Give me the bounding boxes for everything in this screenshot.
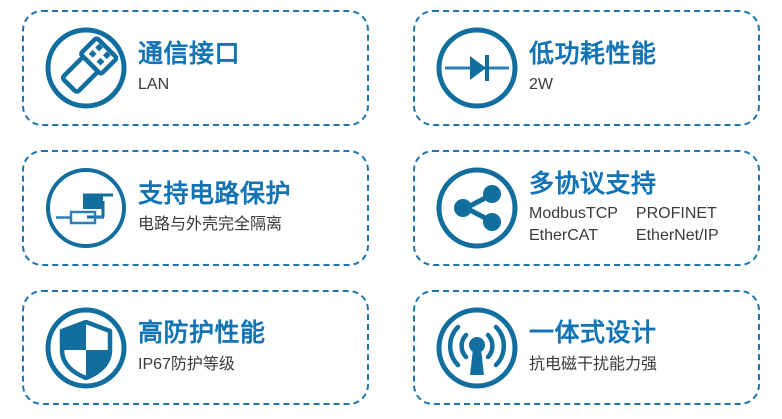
- feature-card-multi-protocol: 多协议支持 ModbusTCP PROFINET EtherCAT EtherN…: [413, 150, 760, 266]
- feature-cell: 低功耗性能 2W: [391, 0, 782, 140]
- feature-card-title: 支持电路保护: [138, 180, 353, 209]
- usb-connector-icon: [40, 22, 132, 114]
- protocol-item: ModbusTCP: [529, 203, 618, 225]
- feature-card-title: 一体式设计: [529, 319, 744, 348]
- feature-card-title: 高防护性能: [138, 319, 353, 348]
- feature-card-circuit-protection: 支持电路保护 电路与外壳完全隔离: [22, 150, 369, 266]
- protocol-item: EtherNet/IP: [636, 225, 719, 247]
- feature-card-subtitle: IP67防护等级: [138, 355, 353, 376]
- shield-icon: [40, 302, 132, 394]
- feature-card-subtitle: 2W: [529, 75, 744, 96]
- feature-card-communication-interface: 通信接口 LAN: [22, 10, 369, 126]
- feature-card-body: 低功耗性能 2W: [523, 40, 744, 96]
- protocol-list: ModbusTCP PROFINET EtherCAT EtherNet/IP: [529, 203, 744, 246]
- feature-card-body: 高防护性能 IP67防护等级: [132, 319, 353, 375]
- circuit-protection-icon: [40, 162, 132, 254]
- feature-card-integrated-design: 一体式设计 抗电磁干扰能力强: [413, 290, 760, 405]
- feature-card-high-protection: 高防护性能 IP67防护等级: [22, 290, 369, 405]
- diode-icon: [431, 22, 523, 114]
- feature-cell: 支持电路保护 电路与外壳完全隔离: [0, 140, 391, 280]
- feature-card-subtitle: 抗电磁干扰能力强: [529, 355, 744, 376]
- feature-card-body: 通信接口 LAN: [132, 40, 353, 96]
- feature-card-subtitle: 电路与外壳完全隔离: [138, 215, 353, 236]
- feature-card-body: 支持电路保护 电路与外壳完全隔离: [132, 180, 353, 236]
- antenna-signal-icon: [431, 302, 523, 394]
- feature-card-subtitle: LAN: [138, 75, 353, 96]
- feature-card-title: 多协议支持: [529, 170, 744, 199]
- feature-card-low-power: 低功耗性能 2W: [413, 10, 760, 126]
- feature-cell: 多协议支持 ModbusTCP PROFINET EtherCAT EtherN…: [391, 140, 782, 280]
- feature-cell: 高防护性能 IP67防护等级: [0, 280, 391, 419]
- feature-cell: 一体式设计 抗电磁干扰能力强: [391, 280, 782, 419]
- protocol-item: EtherCAT: [529, 225, 618, 247]
- feature-card-title: 低功耗性能: [529, 40, 744, 69]
- feature-card-body: 一体式设计 抗电磁干扰能力强: [523, 319, 744, 375]
- feature-card-body: 多协议支持 ModbusTCP PROFINET EtherCAT EtherN…: [523, 170, 744, 247]
- feature-grid: 通信接口 LAN 低功耗性能 2W: [0, 0, 782, 419]
- feature-cell: 通信接口 LAN: [0, 0, 391, 140]
- share-network-icon: [431, 162, 523, 254]
- protocol-item: PROFINET: [636, 203, 719, 225]
- feature-card-title: 通信接口: [138, 40, 353, 69]
